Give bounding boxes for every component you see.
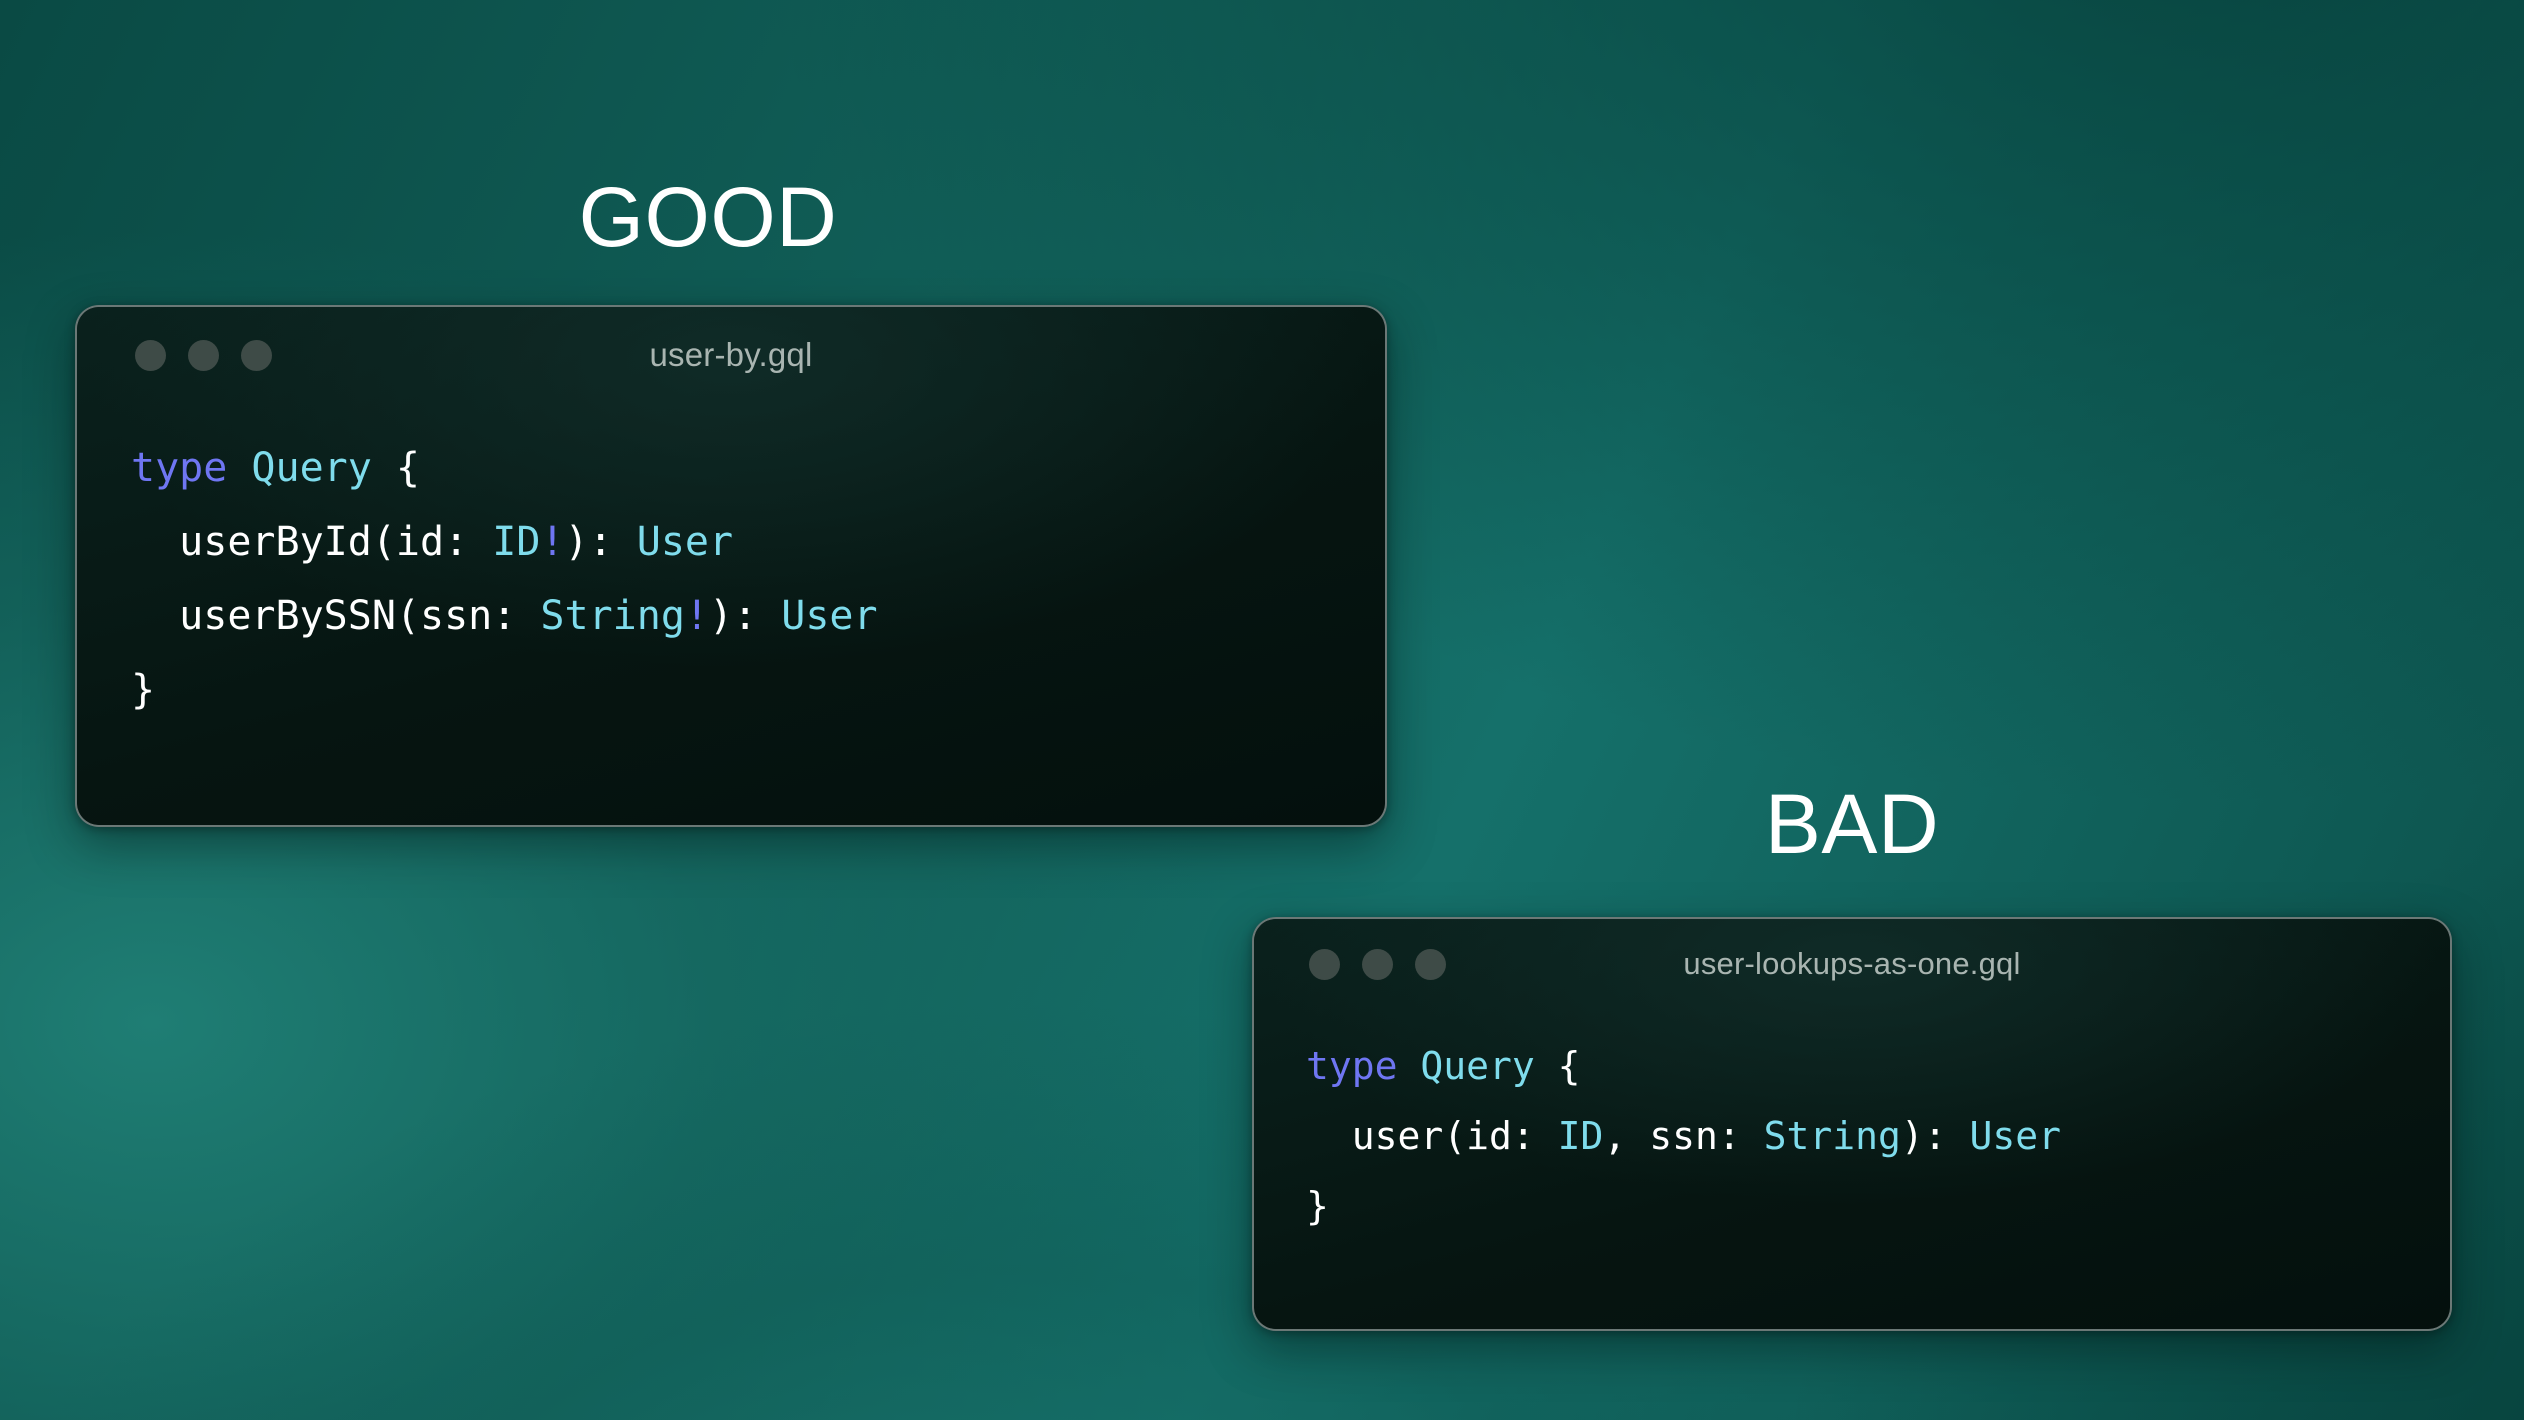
code-token-type: String xyxy=(1764,1114,1901,1158)
maximize-dot-icon[interactable] xyxy=(241,340,272,371)
code-token-plain: { xyxy=(372,445,420,491)
code-line: } xyxy=(1306,1171,2450,1241)
code-token-bang: ! xyxy=(685,593,709,639)
code-block-bad: type Query { user(id: ID, ssn: String): … xyxy=(1254,1009,2450,1241)
code-token-type: User xyxy=(781,593,877,639)
traffic-lights xyxy=(135,340,272,371)
code-token-plain: ): xyxy=(1901,1114,1970,1158)
code-line: type Query { xyxy=(1306,1031,2450,1101)
code-token-plain xyxy=(1398,1044,1421,1088)
code-token-plain: , ssn: xyxy=(1603,1114,1763,1158)
code-token-plain: } xyxy=(131,667,155,713)
window-titlebar: user-by.gql xyxy=(77,307,1385,403)
minimize-dot-icon[interactable] xyxy=(188,340,219,371)
section-label-good: GOOD xyxy=(579,175,838,259)
code-token-type: ID xyxy=(492,519,540,565)
code-token-plain: user(id: xyxy=(1306,1114,1558,1158)
code-line: user(id: ID, ssn: String): User xyxy=(1306,1101,2450,1171)
window-titlebar: user-lookups-as-one.gql xyxy=(1254,919,2450,1009)
code-token-plain xyxy=(227,445,251,491)
section-label-bad: BAD xyxy=(1765,782,1939,866)
comparison-stage: GOOD user-by.gql type Query { userById(i… xyxy=(0,0,2524,1420)
close-dot-icon[interactable] xyxy=(1309,949,1340,980)
maximize-dot-icon[interactable] xyxy=(1415,949,1446,980)
code-token-kw: type xyxy=(1306,1044,1398,1088)
code-window-good[interactable]: user-by.gql type Query { userById(id: ID… xyxy=(75,305,1387,827)
code-token-type: User xyxy=(1970,1114,2062,1158)
code-token-plain: ): xyxy=(565,519,637,565)
code-token-plain: ): xyxy=(709,593,781,639)
code-token-plain: userById(id: xyxy=(131,519,492,565)
code-token-type: Query xyxy=(1420,1044,1534,1088)
code-token-plain: } xyxy=(1306,1184,1329,1228)
code-token-bang: ! xyxy=(540,519,564,565)
code-line: type Query { xyxy=(131,431,1385,505)
code-token-type: Query xyxy=(251,445,371,491)
code-window-bad[interactable]: user-lookups-as-one.gql type Query { use… xyxy=(1252,917,2452,1331)
code-token-plain: { xyxy=(1535,1044,1581,1088)
minimize-dot-icon[interactable] xyxy=(1362,949,1393,980)
close-dot-icon[interactable] xyxy=(135,340,166,371)
window-filename: user-by.gql xyxy=(77,336,1385,374)
code-token-plain: userBySSN(ssn: xyxy=(131,593,540,639)
code-token-kw: type xyxy=(131,445,227,491)
code-block-good: type Query { userById(id: ID!): User use… xyxy=(77,403,1385,727)
traffic-lights xyxy=(1309,949,1446,980)
code-line: userById(id: ID!): User xyxy=(131,505,1385,579)
code-token-type: String xyxy=(540,593,685,639)
code-token-type: ID xyxy=(1558,1114,1604,1158)
code-token-type: User xyxy=(637,519,733,565)
code-line: userBySSN(ssn: String!): User xyxy=(131,579,1385,653)
code-line: } xyxy=(131,653,1385,727)
